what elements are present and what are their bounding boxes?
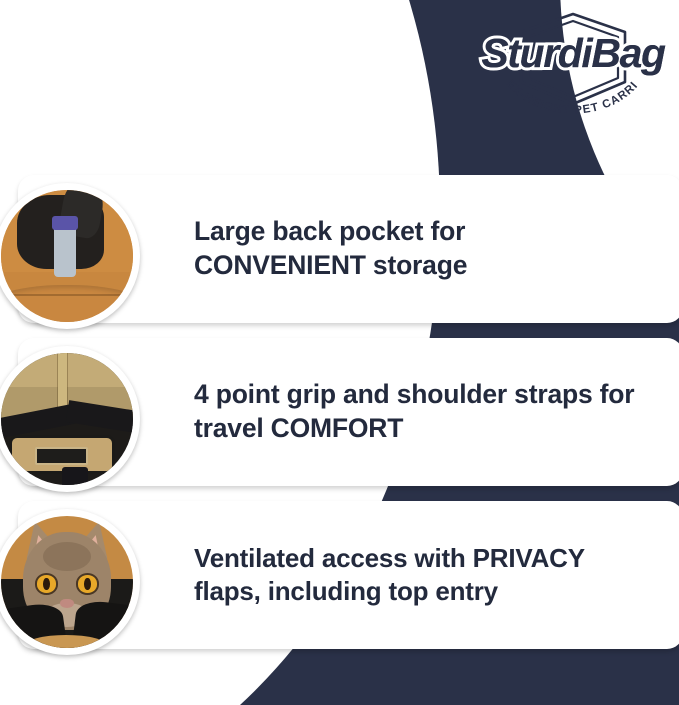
brand-label-patch: [35, 447, 88, 465]
feature-text-ventilated-access: Ventilated access with PRIVACY flaps, in…: [194, 542, 599, 609]
cat-eye-left: [37, 575, 57, 592]
pocket-seam: [1, 294, 133, 296]
feature-line-1: 4 point grip and shoulder straps for: [194, 379, 634, 409]
feature-text-back-pocket: Large back pocket for CONVENIENT storage: [194, 215, 481, 283]
feature-text-grip-straps: 4 point grip and shoulder straps for tra…: [194, 378, 648, 446]
water-bottle: [54, 222, 76, 277]
feature-line-1: Ventilated access with PRIVACY: [194, 543, 585, 573]
sturdibag-logo: FLEX-HEIGHT PET CARRIER SturdiBag Sturdi…: [475, 8, 671, 120]
feature-line-2: travel COMFORT: [194, 413, 403, 443]
cat-eye-right: [78, 575, 98, 592]
photo-cat-top-entry-image: [1, 516, 133, 648]
strap-tail: [62, 467, 88, 485]
photo-back-pocket-image: [1, 190, 133, 322]
water-bottle-cap: [52, 216, 77, 229]
feature-photo-grip-straps: [0, 346, 140, 492]
photo-grip-straps-image: [1, 353, 133, 485]
feature-line-1: Large back pocket for: [194, 216, 465, 246]
logo-wordmark: SturdiBag: [475, 30, 671, 77]
feature-photo-ventilated-access: [0, 509, 140, 655]
feature-line-2: flaps, including top entry: [194, 576, 498, 606]
feature-photo-back-pocket: [0, 183, 140, 329]
back-pocket-panel: [1, 285, 133, 322]
feature-line-2: CONVENIENT storage: [194, 250, 467, 280]
infographic-canvas: FLEX-HEIGHT PET CARRIER SturdiBag Sturdi…: [0, 0, 679, 705]
